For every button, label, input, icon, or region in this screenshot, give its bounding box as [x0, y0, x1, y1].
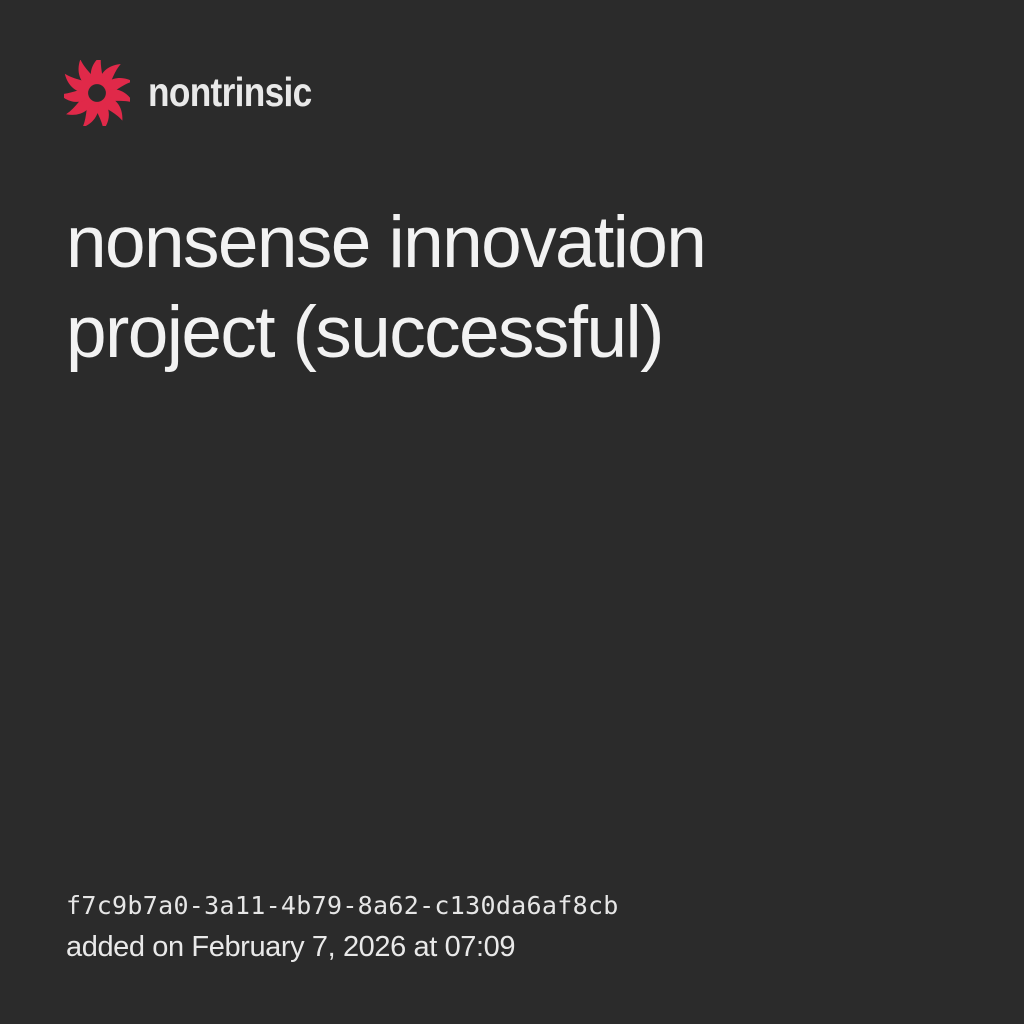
record-uuid: f7c9b7a0-3a11-4b79-8a62-c130da6af8cb — [66, 889, 966, 923]
record-card: nontrinsic nonsense innovation project (… — [0, 0, 1024, 1024]
content-area — [66, 400, 956, 860]
page-title: nonsense innovation project (successful) — [66, 198, 896, 378]
brand-header: nontrinsic — [64, 58, 338, 128]
spiral-pinwheel-icon — [64, 60, 130, 126]
record-added-timestamp: added on February 7, 2026 at 07:09 — [66, 930, 966, 964]
brand-name: nontrinsic — [148, 72, 312, 115]
record-footer: f7c9b7a0-3a11-4b79-8a62-c130da6af8cb add… — [66, 889, 966, 964]
